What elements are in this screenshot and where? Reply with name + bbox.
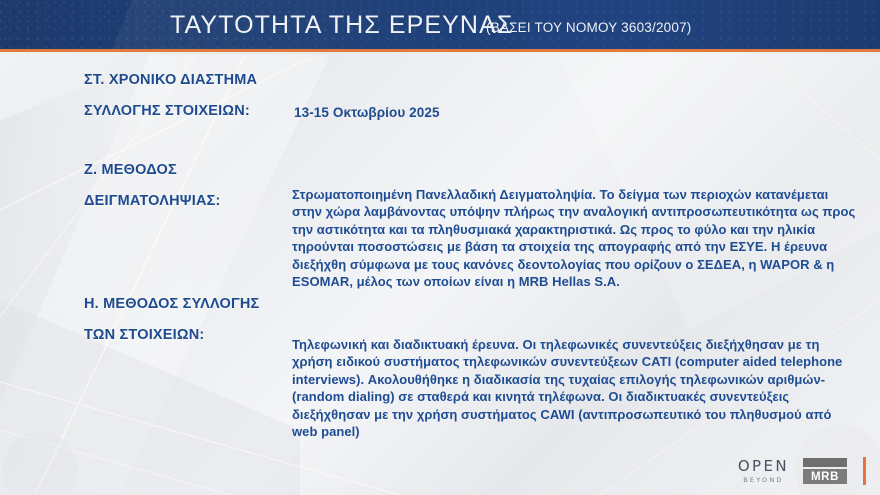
section-st-label-line2: ΣΥΛΛΟΓΗΣ ΣΤΟΙΧΕΙΩΝ: xyxy=(84,103,250,119)
slide-root: ΤΑΥΤΟΤΗΤΑ ΤΗΣ ΕΡΕΥΝΑΣ (ΒΑΣΕΙ ΤΟΥ ΝΟΜΟΥ 3… xyxy=(0,0,880,495)
slide-content: ΣΤ. ΧΡΟΝΙΚΟ ΔΙΑΣΤΗΜΑ ΣΥΛΛΟΓΗΣ ΣΤΟΙΧΕΙΩΝ:… xyxy=(0,55,880,495)
mrb-logo-text: MRB xyxy=(803,469,847,484)
page-title: ΤΑΥΤΟΤΗΤΑ ΤΗΣ ΕΡΕΥΝΑΣ xyxy=(170,11,513,40)
open-logo-wordmark: OPEN xyxy=(738,459,789,474)
open-beyond-logo: OPEN BEYOND xyxy=(738,459,789,484)
mrb-logo-bar xyxy=(803,458,847,467)
orange-accent-bar xyxy=(863,457,866,485)
section-h-label-line1: Η. ΜΕΘΟΔΟΣ ΣΥΛΛΟΓΗΣ xyxy=(84,296,259,312)
section-z-body-text: Στρωματοποιημένη Πανελλαδική Δειγματοληψ… xyxy=(292,186,858,290)
section-z-label-line2: ΔΕΙΓΜΑΤΟΛΗΨΙΑΣ: xyxy=(84,193,221,209)
footer-logos: OPEN BEYOND MRB xyxy=(738,457,866,485)
header-inner: ΤΑΥΤΟΤΗΤΑ ΤΗΣ ΕΡΕΥΝΑΣ (ΒΑΣΕΙ ΤΟΥ ΝΟΜΟΥ 3… xyxy=(0,0,880,49)
page-subtitle: (ΒΑΣΕΙ ΤΟΥ ΝΟΜΟΥ 3603/2007) xyxy=(486,20,691,35)
section-z-label-line1: Ζ. ΜΕΘΟΔΟΣ xyxy=(84,162,177,178)
section-st-value-date: 13-15 Οκτωβρίου 2025 xyxy=(294,105,440,120)
section-h-body-text: Τηλεφωνική και διαδικτυακή έρευνα. Οι τη… xyxy=(292,336,858,440)
open-logo-tagline: BEYOND xyxy=(743,477,783,484)
section-h-label-line2: ΤΩΝ ΣΤΟΙΧΕΙΩΝ: xyxy=(84,327,204,343)
mrb-logo: MRB xyxy=(803,458,847,484)
slide-header: ΤΑΥΤΟΤΗΤΑ ΤΗΣ ΕΡΕΥΝΑΣ (ΒΑΣΕΙ ΤΟΥ ΝΟΜΟΥ 3… xyxy=(0,0,880,52)
section-st-label-line1: ΣΤ. ΧΡΟΝΙΚΟ ΔΙΑΣΤΗΜΑ xyxy=(84,72,257,88)
